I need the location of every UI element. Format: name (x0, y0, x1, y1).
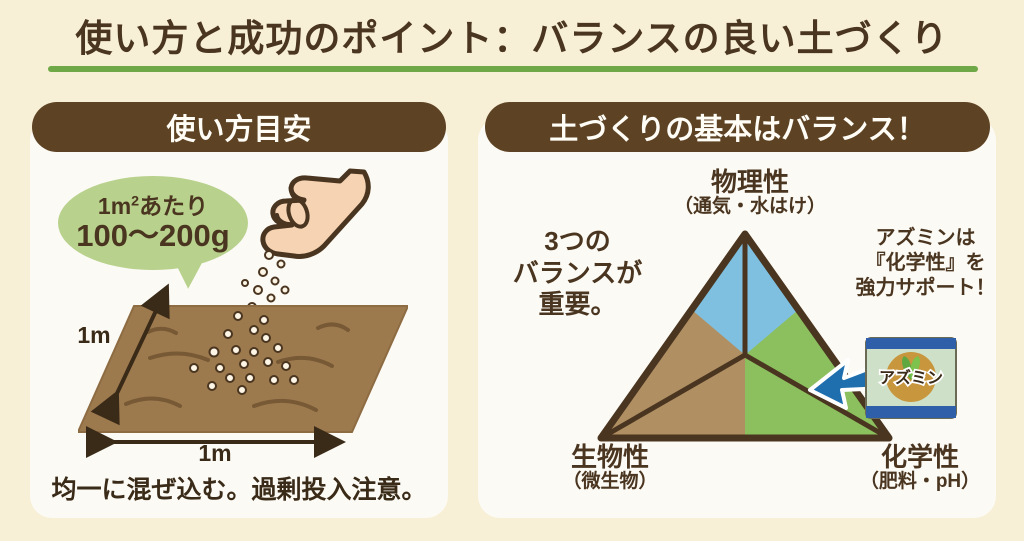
azumin-product-bag-label: アズミン (879, 368, 943, 387)
usage-caption: 均一に混ぜ込む。過剰投入注意。 (32, 470, 446, 506)
vertex-label-biological-title: 生物性 (500, 443, 720, 472)
plot-depth-label: 1m (72, 322, 116, 350)
dosage-amount-label: 100〜200g (76, 220, 229, 253)
vertex-label-physical: 物理性 （通気・水はけ） (640, 168, 860, 217)
vertex-label-chemical-subtitle: （肥料・pH） (810, 472, 1024, 493)
vertex-label-biological-subtitle: （微生物） (500, 472, 720, 493)
page-title: 使い方と成功のポイント：バランスの良い土づくり (0, 8, 1024, 62)
usage-guide-panel-title: 使い方目安 (166, 106, 311, 148)
vertex-label-physical-subtitle: （通気・水はけ） (640, 197, 860, 218)
dosage-per-area-label: 1m2あたり (98, 194, 208, 218)
dimension-arrows (50, 282, 420, 462)
vertex-label-biological: 生物性 （微生物） (500, 443, 720, 492)
vertex-label-chemical: 化学性 （肥料・pH） (810, 443, 1024, 492)
vertex-label-physical-title: 物理性 (640, 168, 860, 197)
infographic-root: 使い方と成功のポイント：バランスの良い土づくり 使い方目安 1m2あたり 100… (0, 0, 1024, 541)
dosage-speech-bubble: 1m2あたり 100〜200g (58, 176, 248, 270)
usage-guide-panel-header: 使い方目安 (32, 102, 446, 152)
dosage-per-area-suffix: あたり (139, 193, 208, 219)
soil-balance-panel-title: 土づくりの基本はバランス！ (549, 106, 925, 148)
title-underline-rule (48, 66, 978, 72)
azumin-product-bag-icon: アズミン (860, 336, 962, 420)
plot-width-label: 1m (180, 440, 250, 470)
vertex-label-chemical-title: 化学性 (810, 443, 1024, 472)
soil-balance-panel-header: 土づくりの基本はバランス！ (485, 102, 990, 152)
